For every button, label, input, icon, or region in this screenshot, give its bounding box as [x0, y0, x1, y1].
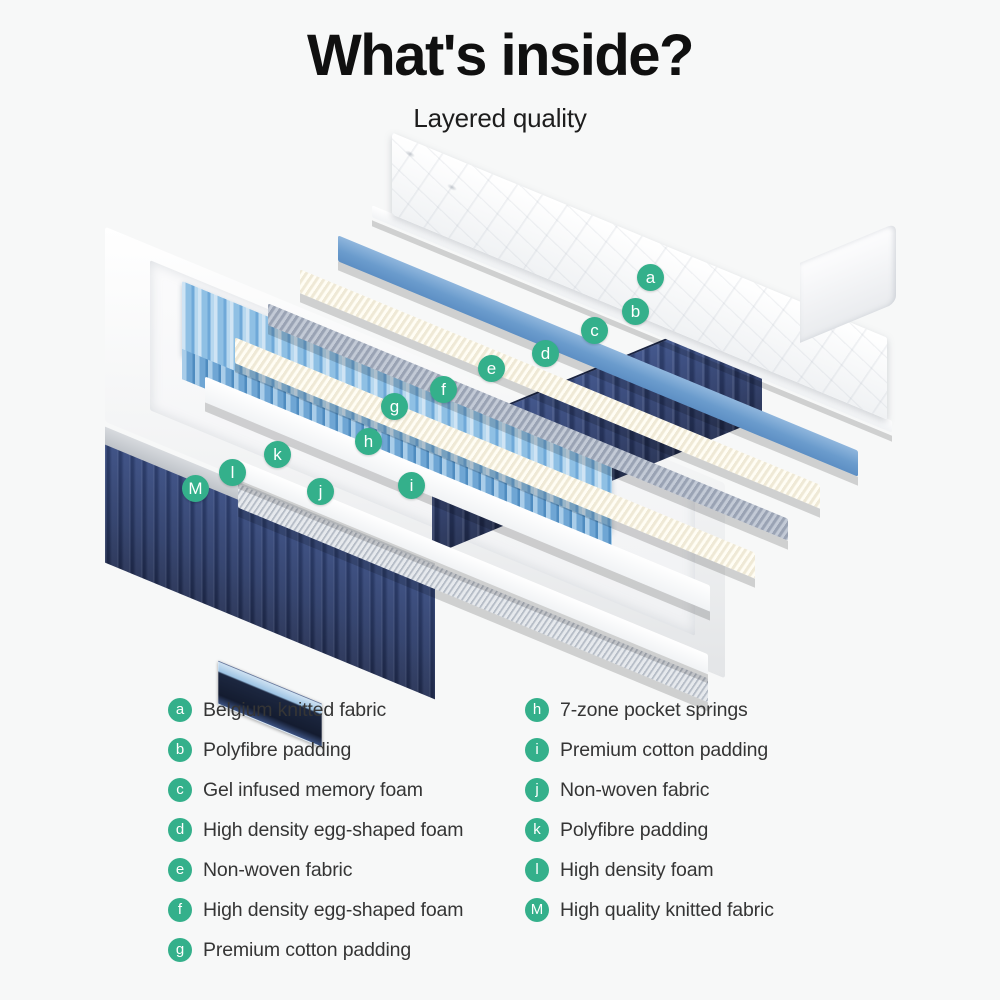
legend-label-e: Non-woven fabric — [203, 859, 352, 882]
legend-item-k[interactable]: k Polyfibre padding — [525, 810, 878, 850]
legend-badge-a: a — [168, 698, 192, 722]
callout-badge-b[interactable]: b — [622, 298, 649, 325]
page-header: What's inside? Layered quality — [0, 0, 1000, 134]
mattress-cutaway-illustration: a b c d e f g h i j k l M — [0, 195, 1000, 655]
legend-item-b[interactable]: b Polyfibre padding — [168, 730, 523, 770]
callout-badge-e[interactable]: e — [478, 355, 505, 382]
legend-item-d[interactable]: d High density egg-shaped foam — [168, 810, 523, 850]
legend-label-d: High density egg-shaped foam — [203, 819, 463, 842]
legend-item-i[interactable]: i Premium cotton padding — [525, 730, 878, 770]
legend-badge-d: d — [168, 818, 192, 842]
legend-item-f[interactable]: f High density egg-shaped foam — [168, 890, 523, 930]
legend-item-j[interactable]: j Non-woven fabric — [525, 770, 878, 810]
legend-label-i: Premium cotton padding — [560, 739, 768, 762]
callout-badge-i[interactable]: i — [398, 472, 425, 499]
legend-badge-c: c — [168, 778, 192, 802]
legend-badge-i: i — [525, 738, 549, 762]
legend-item-a[interactable]: a Belgium knitted fabric — [168, 690, 523, 730]
legend-label-m: High quality knitted fabric — [560, 899, 774, 922]
legend-label-a: Belgium knitted fabric — [203, 699, 386, 722]
legend-label-g: Premium cotton padding — [203, 939, 411, 962]
callout-badge-c[interactable]: c — [581, 317, 608, 344]
callout-badge-j[interactable]: j — [307, 478, 334, 505]
legend-label-c: Gel infused memory foam — [203, 779, 423, 802]
legend-badge-l: l — [525, 858, 549, 882]
legend-item-m[interactable]: M High quality knitted fabric — [525, 890, 878, 930]
callout-badge-m[interactable]: M — [182, 475, 209, 502]
legend-item-h[interactable]: h 7-zone pocket springs — [525, 690, 878, 730]
legend-badge-g: g — [168, 938, 192, 962]
legend-item-e[interactable]: e Non-woven fabric — [168, 850, 523, 890]
callout-badge-l[interactable]: l — [219, 459, 246, 486]
legend-label-f: High density egg-shaped foam — [203, 899, 463, 922]
legend-badge-h: h — [525, 698, 549, 722]
legend-item-g[interactable]: g Premium cotton padding — [168, 930, 523, 970]
callout-badge-d[interactable]: d — [532, 340, 559, 367]
legend-item-c[interactable]: c Gel infused memory foam — [168, 770, 523, 810]
callout-badge-k[interactable]: k — [264, 441, 291, 468]
callout-badge-f[interactable]: f — [430, 376, 457, 403]
legend-label-h: 7-zone pocket springs — [560, 699, 748, 722]
legend-label-l: High density foam — [560, 859, 714, 882]
callout-badge-a[interactable]: a — [637, 264, 664, 291]
page-title: What's inside? — [0, 26, 1000, 87]
legend-label-k: Polyfibre padding — [560, 819, 708, 842]
legend-badge-b: b — [168, 738, 192, 762]
legend-label-j: Non-woven fabric — [560, 779, 709, 802]
legend-badge-k: k — [525, 818, 549, 842]
legend-badge-j: j — [525, 778, 549, 802]
legend-badge-m: M — [525, 898, 549, 922]
page-subtitle: Layered quality — [0, 103, 1000, 134]
legend-column-left: a Belgium knitted fabric b Polyfibre pad… — [168, 690, 523, 970]
legend-badge-e: e — [168, 858, 192, 882]
legend-column-right: h 7-zone pocket springs i Premium cotton… — [523, 690, 878, 970]
layer-legend: a Belgium knitted fabric b Polyfibre pad… — [0, 690, 1000, 970]
callout-badge-g[interactable]: g — [381, 393, 408, 420]
callout-badge-h[interactable]: h — [355, 428, 382, 455]
legend-badge-f: f — [168, 898, 192, 922]
legend-item-l[interactable]: l High density foam — [525, 850, 878, 890]
legend-label-b: Polyfibre padding — [203, 739, 351, 762]
